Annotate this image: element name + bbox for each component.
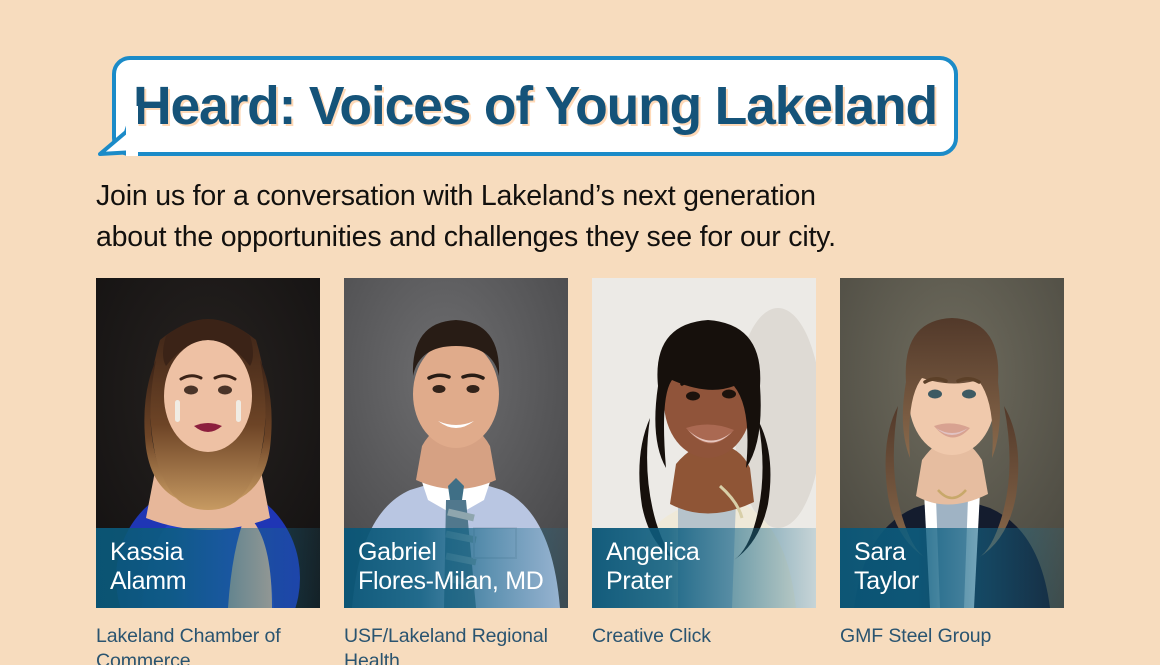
speech-bubble-tail-icon <box>96 106 136 156</box>
affiliation-line-1: GMF Steel Group <box>840 625 991 647</box>
speaker-affiliation: Lakeland Chamber of Commerce <box>96 624 320 665</box>
speaker-name-overlay: Angelica Prater <box>592 528 816 608</box>
speaker-list: Kassia Alamm Lakeland Chamber of Commerc… <box>96 278 1064 665</box>
speaker-photo: Kassia Alamm <box>96 278 320 608</box>
speaker-card[interactable]: Angelica Prater Creative Click <box>592 278 816 665</box>
speaker-photo: Angelica Prater <box>592 278 816 608</box>
speaker-photo: Gabriel Flores-Milan, MD <box>344 278 568 608</box>
affiliation-line-2: Commerce <box>96 649 320 665</box>
speaker-name-overlay: Gabriel Flores-Milan, MD <box>344 528 568 608</box>
title-bubble-body: Heard: Voices of Young Lakeland <box>112 56 958 156</box>
affiliation-line-1: USF/Lakeland Regional <box>344 625 548 647</box>
speaker-name-line-2: Prater <box>606 567 816 596</box>
affiliation-line-1: Lakeland Chamber of <box>96 625 281 647</box>
speaker-name-overlay: Kassia Alamm <box>96 528 320 608</box>
speaker-affiliation: GMF Steel Group <box>840 624 1064 649</box>
speaker-name-line-1: Gabriel <box>358 538 568 567</box>
speaker-photo: Sara Taylor <box>840 278 1064 608</box>
speaker-name-line-1: Sara <box>854 538 1064 567</box>
speaker-card[interactable]: Sara Taylor GMF Steel Group <box>840 278 1064 665</box>
speaker-name-line-1: Angelica <box>606 538 816 567</box>
speaker-name-line-2: Alamm <box>110 567 320 596</box>
speaker-name-line-2: Taylor <box>854 567 1064 596</box>
speaker-name-line-2: Flores-Milan, MD <box>358 567 568 596</box>
page-title: Heard: Voices of Young Lakeland <box>133 79 937 133</box>
affiliation-line-2: Health <box>344 649 568 665</box>
speaker-card[interactable]: Gabriel Flores-Milan, MD USF/Lakeland Re… <box>344 278 568 665</box>
speaker-name-overlay: Sara Taylor <box>840 528 1064 608</box>
affiliation-line-1: Creative Click <box>592 625 711 647</box>
description-line-2: about the opportunities and challenges t… <box>96 217 1036 258</box>
speaker-name-line-1: Kassia <box>110 538 320 567</box>
event-description: Join us for a conversation with Lakeland… <box>96 176 1036 258</box>
speaker-card[interactable]: Kassia Alamm Lakeland Chamber of Commerc… <box>96 278 320 665</box>
speaker-affiliation: USF/Lakeland Regional Health <box>344 624 568 665</box>
speaker-affiliation: Creative Click <box>592 624 816 649</box>
title-speech-bubble: Heard: Voices of Young Lakeland <box>96 56 958 156</box>
description-line-1: Join us for a conversation with Lakeland… <box>96 176 1036 217</box>
